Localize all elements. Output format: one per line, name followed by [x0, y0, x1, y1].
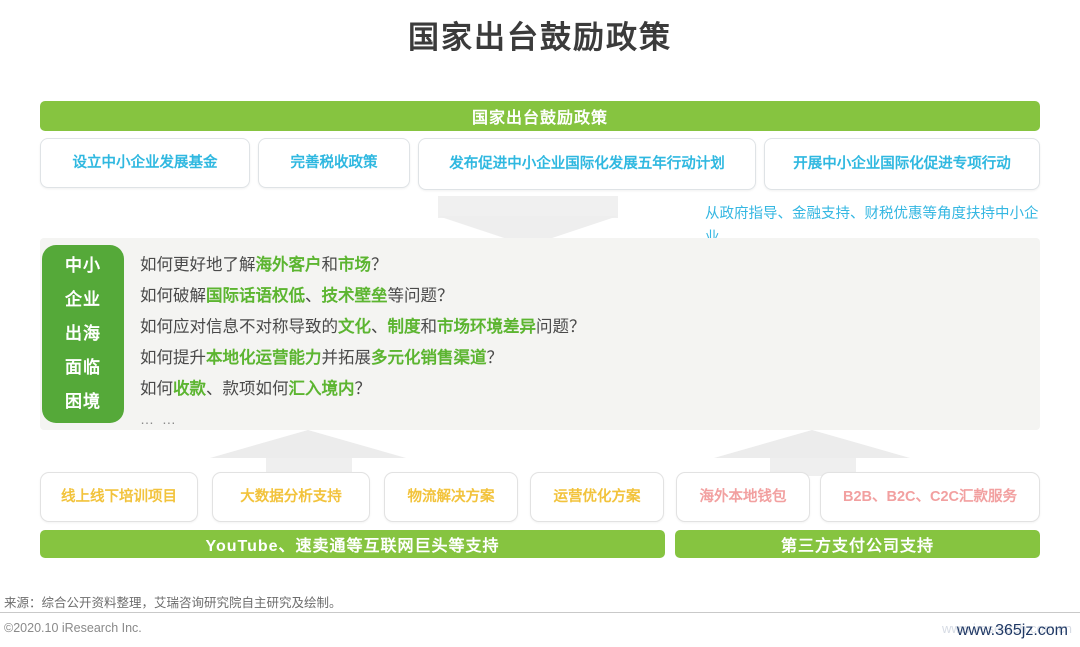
- problem-text: 如何更好地了解: [140, 256, 256, 274]
- support-box-label: 物流解决方案: [408, 487, 495, 507]
- problem-highlight: 本地化运营能力: [206, 349, 322, 367]
- problem-text: ？: [355, 380, 372, 398]
- footer-source: 来源：综合公开资料整理，艾瑞咨询研究院自主研究及绘制。: [4, 592, 342, 611]
- problem-highlight: 收款: [173, 380, 206, 398]
- problem-text: 如何破解: [140, 287, 206, 305]
- problem-text: 并拓展: [322, 349, 372, 367]
- support-box-remittance[interactable]: B2B、B2C、C2C汇款服务: [820, 472, 1040, 522]
- problem-tag-line: 中小: [42, 249, 124, 283]
- support-box-wallet[interactable]: 海外本地钱包: [676, 472, 810, 522]
- footer-copyright: ©2020.10 iResearch Inc.: [4, 621, 142, 635]
- bottom-bar-label: YouTube、速卖通等互联网巨头等支持: [205, 532, 499, 556]
- problem-highlight: 市场环境差异: [437, 318, 536, 336]
- slide-canvas: 国家出台鼓励政策 国家出台鼓励政策 设立中小企业发展基金 完善税收政策 发布促进…: [0, 0, 1080, 647]
- problem-text: ？: [371, 256, 388, 274]
- bottom-bar-payment-companies: 第三方支付公司支持: [675, 530, 1040, 558]
- support-box-operations[interactable]: 运营优化方案: [530, 472, 664, 522]
- bottom-bar-internet-giants: YouTube、速卖通等互联网巨头等支持: [40, 530, 665, 558]
- policy-box-label: 发布促进中小企业国际化发展五年行动计划: [449, 154, 725, 174]
- problem-highlight: 市场: [338, 256, 371, 274]
- problem-text: 、: [305, 287, 322, 305]
- problem-text: 、款项如何: [206, 380, 289, 398]
- problem-highlight: 海外客户: [256, 256, 322, 274]
- problem-line: 如何收款、款项如何汇入境内？: [140, 374, 1020, 405]
- support-box-label: B2B、B2C、C2C汇款服务: [843, 487, 1017, 507]
- policy-box-label: 设立中小企业发展基金: [73, 153, 218, 173]
- bottom-bar-label: 第三方支付公司支持: [781, 532, 934, 556]
- problem-text: ？: [487, 349, 504, 367]
- page-title: 国家出台鼓励政策: [0, 12, 1080, 57]
- problem-highlight: 汇入境内: [289, 380, 355, 398]
- problem-tag-line: 面临: [42, 351, 124, 385]
- top-policy-banner: 国家出台鼓励政策: [40, 101, 1040, 131]
- problem-panel-tag: 中小 企业 出海 面临 困境: [42, 245, 124, 423]
- policy-box-special-action[interactable]: 开展中小企业国际化促进专项行动: [764, 138, 1040, 190]
- support-box-logistics[interactable]: 物流解决方案: [384, 472, 518, 522]
- policy-box-fund[interactable]: 设立中小企业发展基金: [40, 138, 250, 188]
- support-box-training[interactable]: 线上线下培训项目: [40, 472, 198, 522]
- policy-box-tax[interactable]: 完善税收政策: [258, 138, 410, 188]
- problem-text: 如何: [140, 380, 173, 398]
- support-box-label: 大数据分析支持: [240, 487, 342, 507]
- problem-text: 和: [322, 256, 339, 274]
- problem-ellipsis: … …: [140, 405, 1020, 433]
- support-box-label: 线上线下培训项目: [61, 487, 177, 507]
- problem-tag-line: 企业: [42, 283, 124, 317]
- problem-text: 和: [421, 318, 438, 336]
- problem-line: 如何更好地了解海外客户和市场？: [140, 250, 1020, 281]
- problem-highlight: 国际话语权低: [206, 287, 305, 305]
- arrow-down-shaft: [438, 196, 618, 218]
- support-box-bigdata[interactable]: 大数据分析支持: [212, 472, 370, 522]
- problem-text: 如何应对信息不对称导致的: [140, 318, 338, 336]
- problem-text: 等问题？: [388, 287, 454, 305]
- problem-line: 如何破解国际话语权低、技术壁垒等问题？: [140, 281, 1020, 312]
- problem-highlight: 多元化销售渠道: [371, 349, 487, 367]
- problem-text: 如何提升: [140, 349, 206, 367]
- arrow-up-left-head: [210, 430, 406, 458]
- policy-box-label: 开展中小企业国际化促进专项行动: [793, 154, 1011, 174]
- footer-divider: [0, 612, 1080, 613]
- problem-highlight: 文化: [338, 318, 371, 336]
- problem-highlight: 技术壁垒: [322, 287, 388, 305]
- problem-line: 如何提升本地化运营能力并拓展多元化销售渠道？: [140, 343, 1020, 374]
- problem-tag-line: 困境: [42, 385, 124, 419]
- problem-list: 如何更好地了解海外客户和市场？ 如何破解国际话语权低、技术壁垒等问题？ 如何应对…: [140, 250, 1020, 433]
- policy-box-five-year-plan[interactable]: 发布促进中小企业国际化发展五年行动计划: [418, 138, 756, 190]
- problem-line: 如何应对信息不对称导致的文化、制度和市场环境差异问题？: [140, 312, 1020, 343]
- problem-tag-line: 出海: [42, 317, 124, 351]
- problem-text: 、: [371, 318, 388, 336]
- top-policy-banner-label: 国家出台鼓励政策: [472, 104, 608, 128]
- arrow-up-right-head: [714, 430, 910, 458]
- policy-box-label: 完善税收政策: [291, 153, 378, 173]
- support-box-label: 运营优化方案: [554, 487, 641, 507]
- support-box-label: 海外本地钱包: [700, 487, 787, 507]
- problem-highlight: 制度: [388, 318, 421, 336]
- watermark-365jz: www.365jz.com: [957, 622, 1068, 640]
- problem-text: 问题？: [536, 318, 586, 336]
